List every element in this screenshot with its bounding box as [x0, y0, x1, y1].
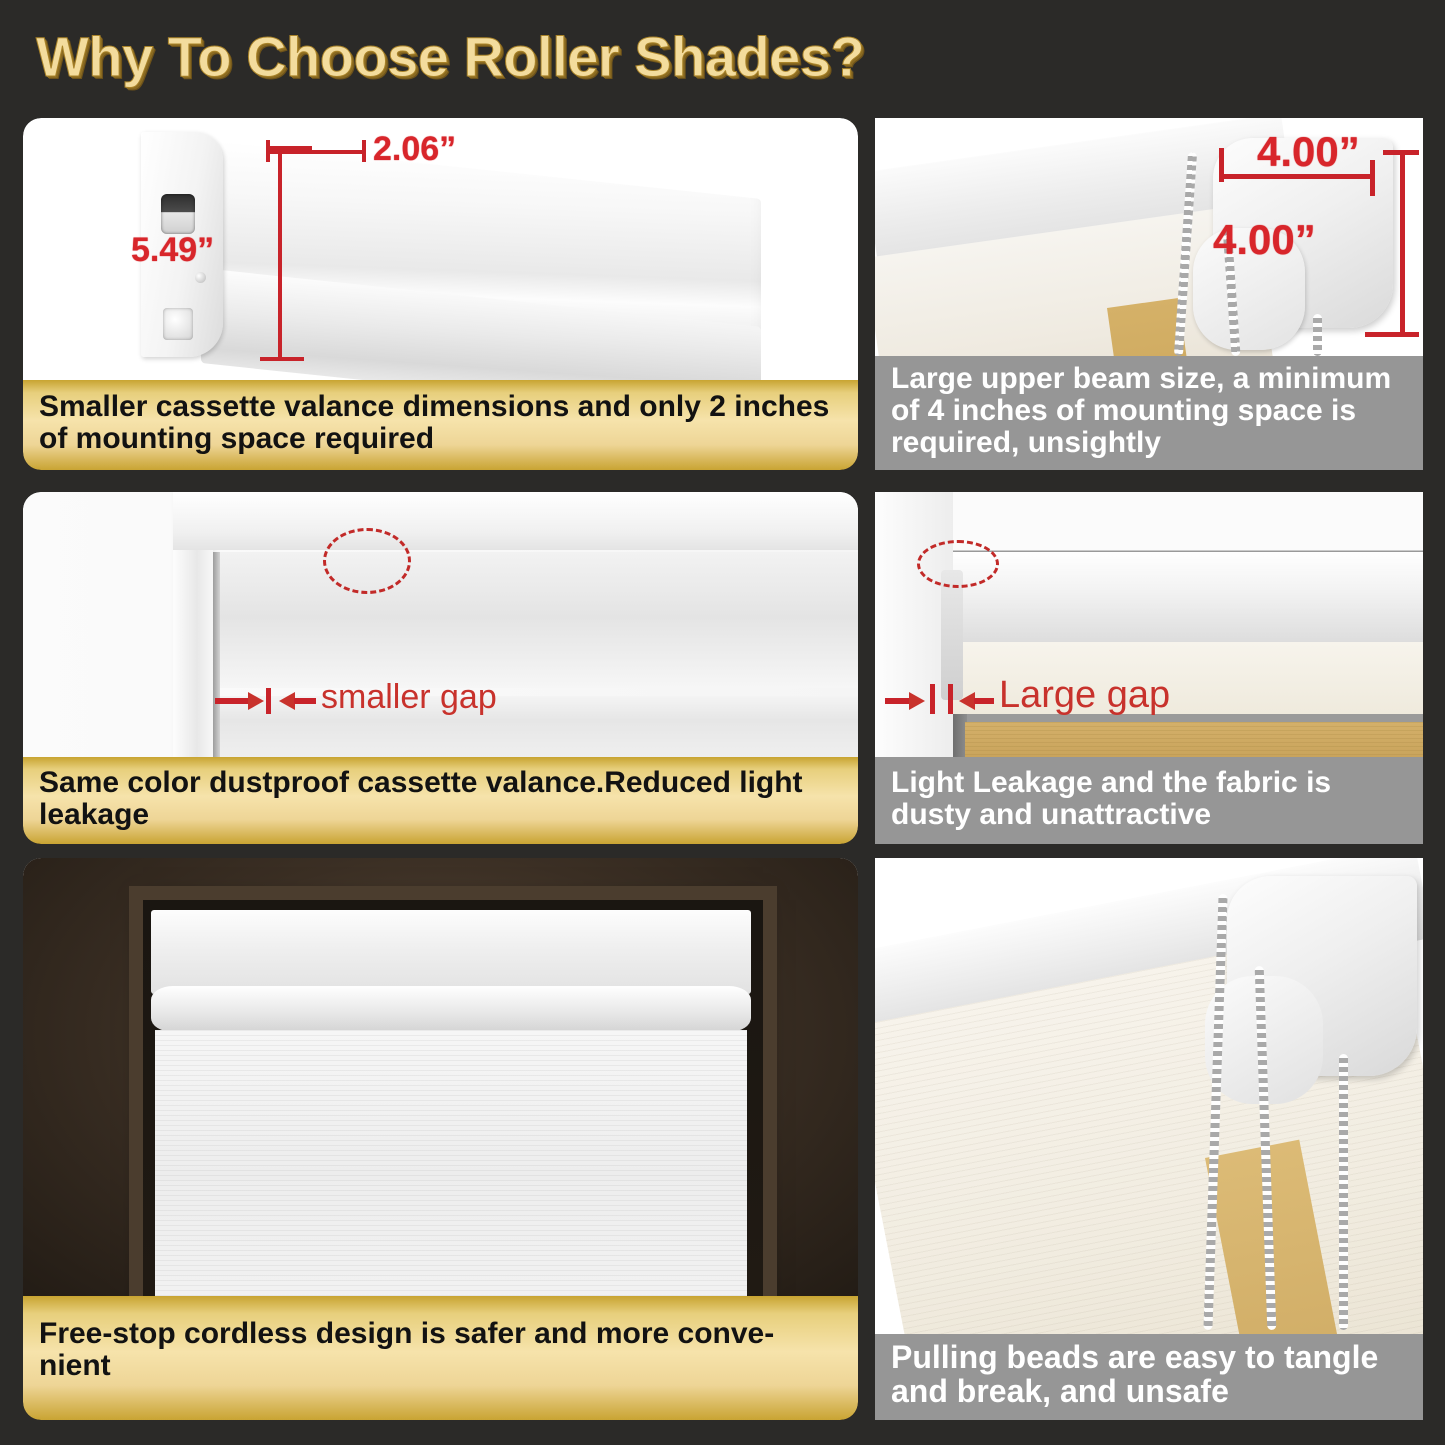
panel-dustproof-valance: smaller gap Same color dustproof cassett… — [23, 492, 858, 844]
bead-chain-right — [1339, 1054, 1348, 1330]
panel-5-caption-text: Free-stop cordless design is safer and m… — [39, 1318, 842, 1382]
gap-marker-bar-1 — [930, 684, 935, 714]
large-gap-label: Large gap — [999, 674, 1170, 717]
panel-5-caption: Free-stop cordless design is safer and m… — [23, 1296, 858, 1420]
panel-4-caption-text: Light Leakage and the fabric is dusty an… — [891, 767, 1407, 831]
panel-6-caption: Pulling beads are easy to tangle and bre… — [875, 1334, 1423, 1420]
page-title: Why To Choose Roller Shades? — [36, 24, 864, 89]
mounting-clip — [941, 570, 963, 700]
depth-dim-tick-left — [266, 140, 270, 162]
shade-fabric — [219, 696, 858, 757]
panel-1-caption: Smaller cassette valance dimensions and … — [23, 380, 858, 470]
depth2-dim-tick-bottom — [1365, 332, 1419, 337]
depth-dimension-label: 2.06” — [373, 130, 456, 169]
window-head-trim — [173, 492, 858, 550]
gap-arrow-left-head — [909, 692, 925, 710]
gap-marker-bar-2 — [948, 684, 953, 714]
height-dimension-label: 5.49” — [131, 231, 214, 270]
gap-arrow-left — [215, 698, 251, 704]
panel-4-caption: Light Leakage and the fabric is dusty an… — [875, 757, 1423, 844]
cassette-valance — [219, 552, 858, 688]
gap-arrow-right-head — [959, 692, 975, 710]
panel-6-caption-text: Pulling beads are easy to tangle and bre… — [891, 1341, 1407, 1409]
gap-arrow-left-head — [248, 692, 264, 710]
panel-3-photo: smaller gap — [23, 492, 858, 757]
depth-dim-tick-right — [362, 140, 366, 162]
panel-1-caption-text: Smaller cassette valance dimensions and … — [39, 391, 842, 455]
roller-head-rail — [953, 552, 1423, 652]
gap-arrow-right — [974, 698, 994, 704]
shade-fabric — [155, 1030, 747, 1296]
valance-front-rod — [151, 986, 751, 1032]
depth2-dimension-label: 4.00” — [1213, 216, 1316, 264]
panel-pulling-beads: Pulling beads are easy to tangle and bre… — [875, 858, 1423, 1420]
panel-large-beam: 4.00” 4.00” Large upper beam size, a min… — [875, 118, 1423, 470]
gap-marker-bar — [266, 688, 271, 714]
bead-chain-far-right — [1313, 314, 1322, 356]
cassette-headrail — [151, 910, 751, 994]
panel-3-caption: Same color dustproof cassette valance.Re… — [23, 757, 858, 844]
width-dim-tick-left — [1219, 148, 1224, 182]
gap-arrow-right-head — [279, 692, 295, 710]
panel-5-photo — [23, 858, 858, 1296]
panel-cassette-dimensions: 2.06” 5.49” Smaller cassette valance dim… — [23, 118, 858, 470]
width-dim-tick-right — [1370, 160, 1375, 196]
smaller-gap-label: smaller gap — [321, 678, 497, 717]
gap-arrow-left — [885, 698, 911, 704]
panel-cordless-design: Free-stop cordless design is safer and m… — [23, 858, 858, 1420]
panel-2-caption-text: Large upper beam size, a minimum of 4 in… — [891, 363, 1407, 458]
panel-1-photo: 2.06” 5.49” — [23, 118, 858, 380]
panel-light-leakage: Large gap Light Leakage and the fabric i… — [875, 492, 1423, 844]
end-cap-slot — [161, 194, 195, 234]
height-dim-line — [278, 146, 282, 361]
panel-4-photo: Large gap — [875, 492, 1423, 757]
width-dimension-label: 4.00” — [1257, 128, 1360, 176]
end-cap-knob — [163, 308, 193, 340]
depth2-dim-line — [1400, 150, 1405, 336]
shade-side-edge — [213, 552, 220, 757]
gap-arrow-right — [294, 698, 316, 704]
height-dim-tick-top — [268, 146, 312, 150]
tan-fabric — [965, 722, 1423, 757]
height-dim-tick-bottom — [260, 357, 304, 361]
panel-2-caption: Large upper beam size, a minimum of 4 in… — [875, 356, 1423, 470]
panel-3-caption-text: Same color dustproof cassette valance.Re… — [39, 767, 842, 831]
end-cap-screw — [195, 272, 206, 283]
depth2-dim-tick-top — [1383, 150, 1419, 155]
panel-2-photo: 4.00” 4.00” — [875, 118, 1423, 356]
gap-highlight-circle — [917, 540, 999, 588]
gap-highlight-circle — [323, 528, 411, 594]
panel-6-photo — [875, 858, 1423, 1334]
